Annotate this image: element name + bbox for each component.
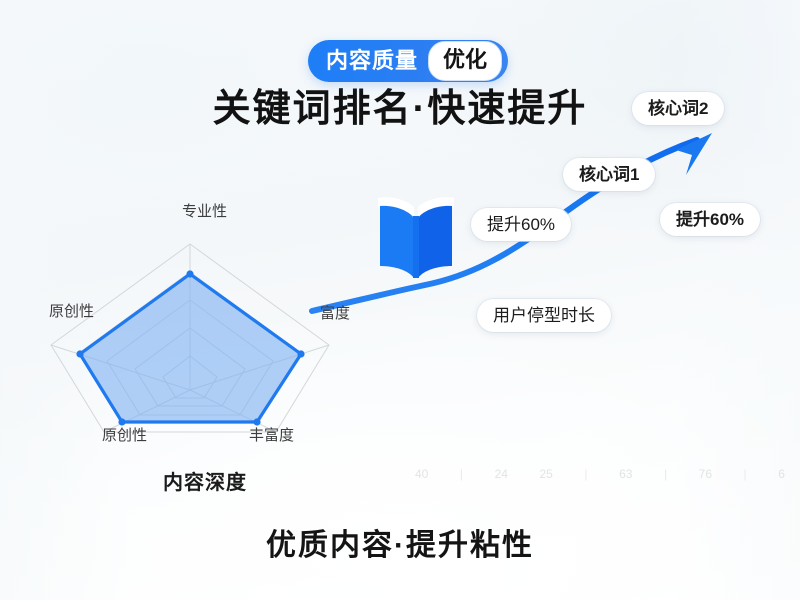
radar-axis-label-left: 原创性 [49, 300, 94, 321]
tick-6: | [664, 467, 667, 481]
tick-4: | [584, 467, 587, 481]
tick-5: 63 [619, 467, 632, 481]
bottom-headline: 优质内容·提升粘性 [0, 520, 800, 564]
radar-axis-label-top: 专业性 [182, 200, 227, 221]
callout-lift-left[interactable]: 提升60% [471, 208, 571, 241]
depth-caption: 内容深度 [163, 466, 247, 495]
tick-1: | [460, 467, 463, 481]
slide-canvas: 内容质量 优化 关键词排名·快速提升 [0, 0, 800, 600]
tick-2: 24 [495, 467, 508, 481]
callout-keyword-1[interactable]: 核心词1 [563, 158, 655, 191]
badge-pill-label: 优化 [428, 41, 502, 81]
radar-axis-label-bottom-left: 原创性 [102, 424, 147, 445]
radar-chart [30, 230, 350, 450]
open-book-icon [370, 186, 462, 286]
callout-lift-right[interactable]: 提升60% [660, 203, 760, 236]
radar-axis-label-right: 富度 [320, 302, 350, 323]
callout-dwell-time[interactable]: 用户停型时长 [477, 299, 611, 332]
callout-keyword-2[interactable]: 核心词2 [632, 92, 724, 125]
tick-8: | [744, 467, 747, 481]
radar-axis-label-bottom-right: 丰富度 [249, 424, 294, 445]
tick-7: 76 [699, 467, 712, 481]
faint-axis-ticks: 40 | 24 25 | 63 | 76 | 6 [415, 463, 785, 485]
tick-3: 25 [539, 467, 552, 481]
badge-main-label: 内容质量 [326, 50, 428, 72]
tick-0: 40 [415, 467, 428, 481]
tick-9: 6 [778, 467, 785, 481]
quality-badge[interactable]: 内容质量 优化 [308, 40, 508, 82]
